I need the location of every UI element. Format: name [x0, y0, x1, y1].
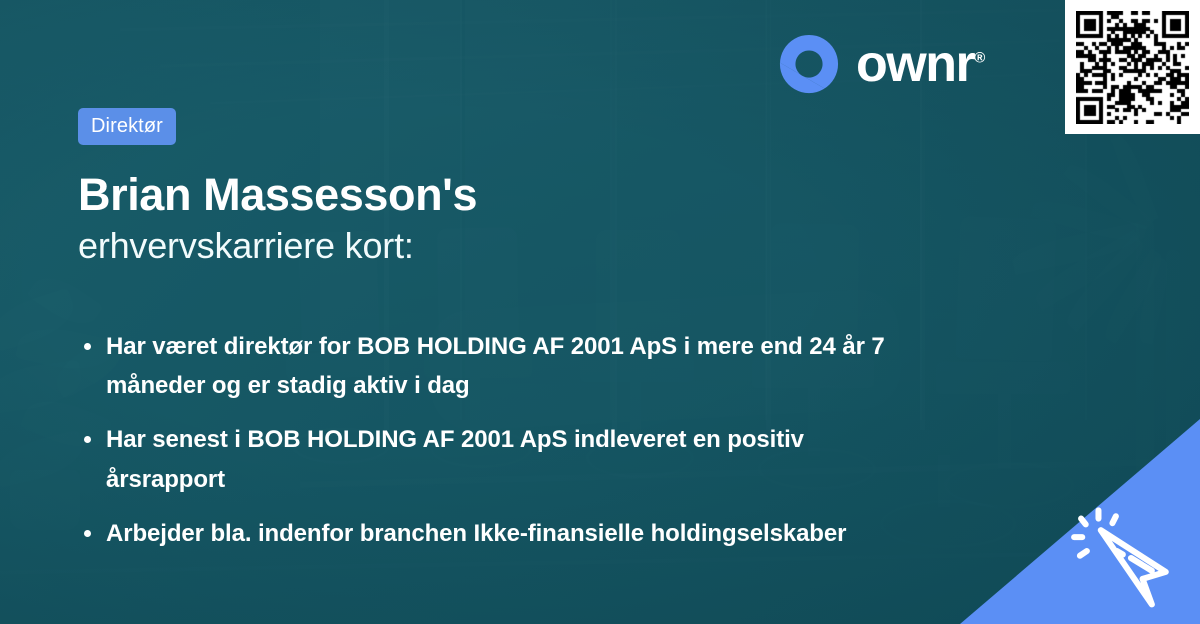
plant-pot [10, 470, 80, 530]
qr-code-panel[interactable] [1065, 0, 1200, 134]
palm-frond [1010, 222, 1143, 274]
page-title: Brian Massesson's [78, 171, 958, 218]
palm-frond [1030, 230, 1146, 311]
qr-code[interactable] [1076, 11, 1189, 124]
profile-card: ownr® Direktør Brian Massesson's erhverv… [0, 0, 1200, 624]
card-content: Direktør Brian Massesson's erhvervskarri… [78, 108, 958, 568]
list-item: Har været direktør for BOB HOLDING AF 20… [78, 327, 908, 407]
list-item: Arbejder bla. indenfor branchen Ikke-fin… [78, 514, 908, 554]
list-item: Har senest i BOB HOLDING AF 2001 ApS ind… [78, 420, 908, 500]
plant-leaf [0, 288, 80, 353]
palm-frond [1134, 257, 1172, 345]
plant-leaf [0, 360, 84, 415]
ceiling-line [120, 8, 1100, 32]
role-badge: Direktør [78, 108, 176, 145]
career-highlights-list: Har været direktør for BOB HOLDING AF 20… [78, 327, 908, 554]
plant-leaf [0, 430, 87, 489]
ceiling-area [0, 0, 1200, 120]
palm-frond [1060, 236, 1150, 332]
corner-wedge [960, 419, 1200, 624]
ownr-wordmark-text: ownr [856, 35, 974, 93]
ownr-wordmark: ownr® [856, 38, 985, 90]
palm-frond [1099, 249, 1169, 344]
click-cursor-icon [1066, 500, 1182, 616]
ownr-logo[interactable]: ownr® [778, 33, 985, 95]
palm-frond [1030, 195, 1147, 248]
palm-frond [1063, 159, 1154, 236]
page-subtitle: erhvervskarriere kort: [78, 226, 958, 266]
ownr-circle-logo-icon [778, 33, 840, 95]
office-chair [956, 216, 1057, 361]
palm-frond [1111, 133, 1159, 224]
registered-trademark-icon: ® [974, 50, 985, 67]
